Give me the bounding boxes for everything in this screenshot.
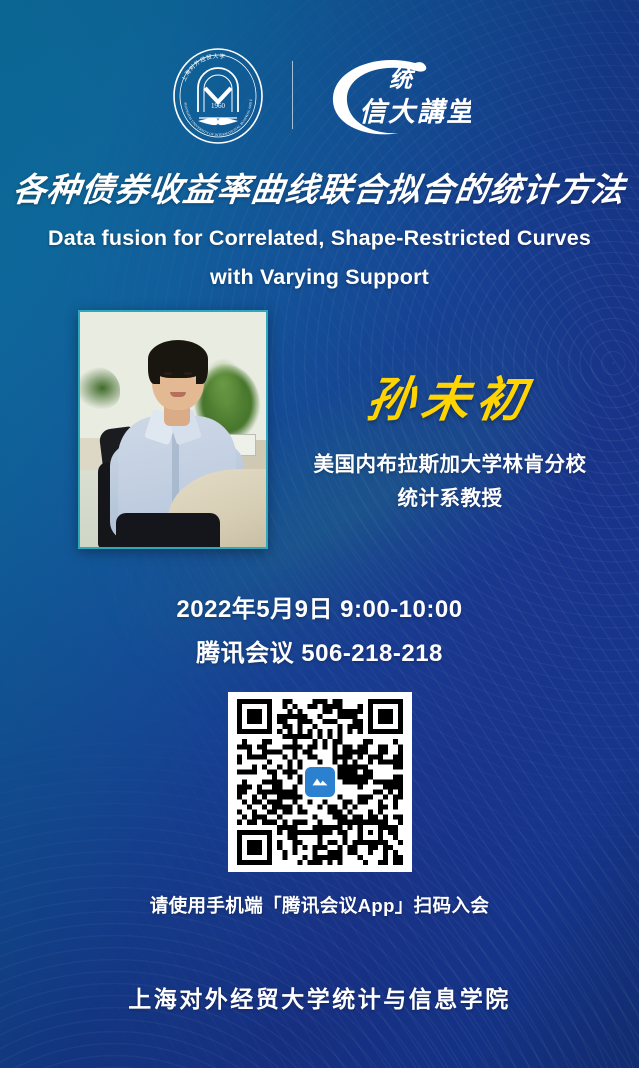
speaker-affiliation-line2: 统计系教授 xyxy=(280,482,620,516)
schedule-datetime: 2022年5月9日 9:00-10:00 xyxy=(0,588,639,632)
schedule-meeting-id: 腾讯会议 506-218-218 xyxy=(0,632,639,676)
university-seal-icon: 1960 上海对外经贸大学 SHANGHAI UNIVERSITY OF INT… xyxy=(168,46,266,144)
svg-text:1960: 1960 xyxy=(211,102,226,110)
speaker-name: 孙未初 xyxy=(295,360,605,430)
svg-text:信大講堂: 信大講堂 xyxy=(359,97,471,128)
qr-code[interactable] xyxy=(228,692,412,872)
qr-code-canvas xyxy=(235,699,405,865)
logo-row: 1960 上海对外经贸大学 SHANGHAI UNIVERSITY OF INT… xyxy=(0,46,639,144)
seminar-poster: 1960 上海对外经贸大学 SHANGHAI UNIVERSITY OF INT… xyxy=(0,0,639,1068)
schedule-block: 2022年5月9日 9:00-10:00 腾讯会议 506-218-218 xyxy=(0,588,639,676)
speaker-affiliation: 美国内布拉斯加大学林肯分校 统计系教授 xyxy=(280,448,620,516)
tencent-meeting-logo-icon xyxy=(303,765,337,799)
organizer-footer: 上海对外经贸大学统计与信息学院 xyxy=(0,980,639,1014)
svg-text:统: 统 xyxy=(389,66,416,93)
qr-scan-hint: 请使用手机端「腾讯会议App」扫码入会 xyxy=(0,892,639,918)
enso-brush-circle-icon: 统 信大講堂 xyxy=(319,49,471,141)
speaker-affiliation-line1: 美国内布拉斯加大学林肯分校 xyxy=(280,448,620,482)
logo-divider xyxy=(292,61,293,129)
page-title-en: Data fusion for Correlated, Shape-Restri… xyxy=(0,219,639,297)
speaker-photo xyxy=(78,310,268,549)
page-title-en-line1: Data fusion for Correlated, Shape-Restri… xyxy=(0,219,639,258)
page-title-cn: 各种债券收益率曲线联合拟合的统计方法 xyxy=(0,163,639,211)
page-title-en-line2: with Varying Support xyxy=(0,258,639,297)
